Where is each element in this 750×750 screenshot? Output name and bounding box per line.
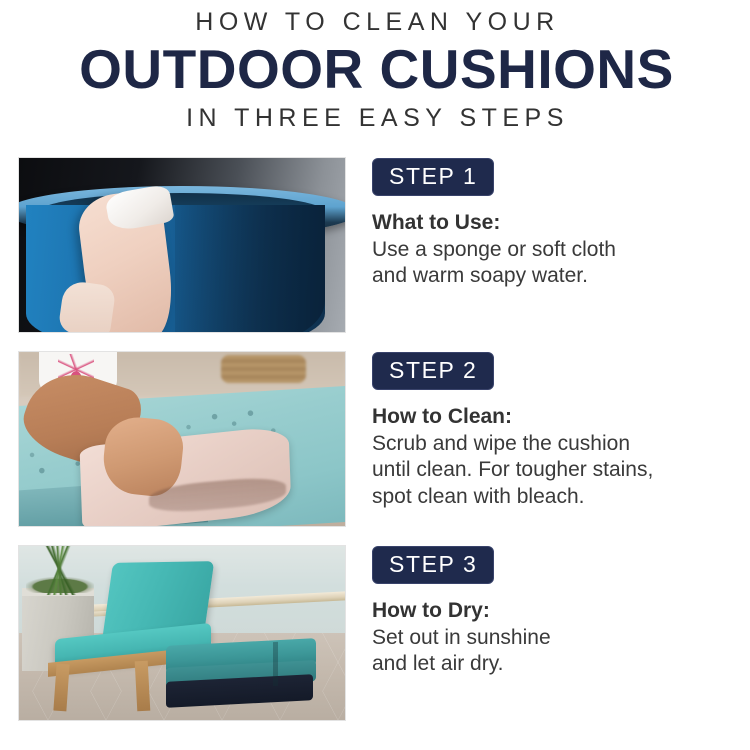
step-body: Scrub and wipe the cushion until clean. … [372,431,750,510]
step-body: Use a sponge or soft cloth and warm soap… [372,237,750,290]
step-row: STEP 1 What to Use: Use a sponge or soft… [0,157,750,333]
step-heading: What to Use: [372,210,750,236]
step-heading: How to Clean: [372,404,750,430]
steps-list: STEP 1 What to Use: Use a sponge or soft… [0,157,750,739]
step-2-text: STEP 2 How to Clean: Scrub and wipe the … [372,351,750,510]
step-row: STEP 3 How to Dry: Set out in sunshine a… [0,545,750,721]
step-row: STEP 2 How to Clean: Scrub and wipe the … [0,351,750,527]
step-body: Set out in sunshine and let air dry. [372,625,750,678]
step-2-photo [18,351,346,527]
agave-plant [29,545,91,595]
wicker-basket [221,355,306,383]
page-title: OUTDOOR CUSHIONS [0,40,750,98]
step-heading: How to Dry: [372,598,750,624]
step-badge: STEP 2 [372,352,494,390]
step-3-text: STEP 3 How to Dry: Set out in sunshine a… [372,545,750,678]
step-1-photo [18,157,346,333]
bucket-shadow [175,205,325,333]
header-kicker: HOW TO CLEAN YOUR [0,8,750,37]
header-subkicker: IN THREE EASY STEPS [0,104,750,133]
step-badge: STEP 1 [372,158,494,196]
infographic-header: HOW TO CLEAN YOUR OUTDOOR CUSHIONS IN TH… [0,0,750,133]
white-cloth-hanging [58,280,117,333]
step-badge: STEP 3 [372,546,494,584]
stacked-cushion-seam [273,642,278,686]
step-3-photo [18,545,346,721]
step-1-text: STEP 1 What to Use: Use a sponge or soft… [372,157,750,290]
